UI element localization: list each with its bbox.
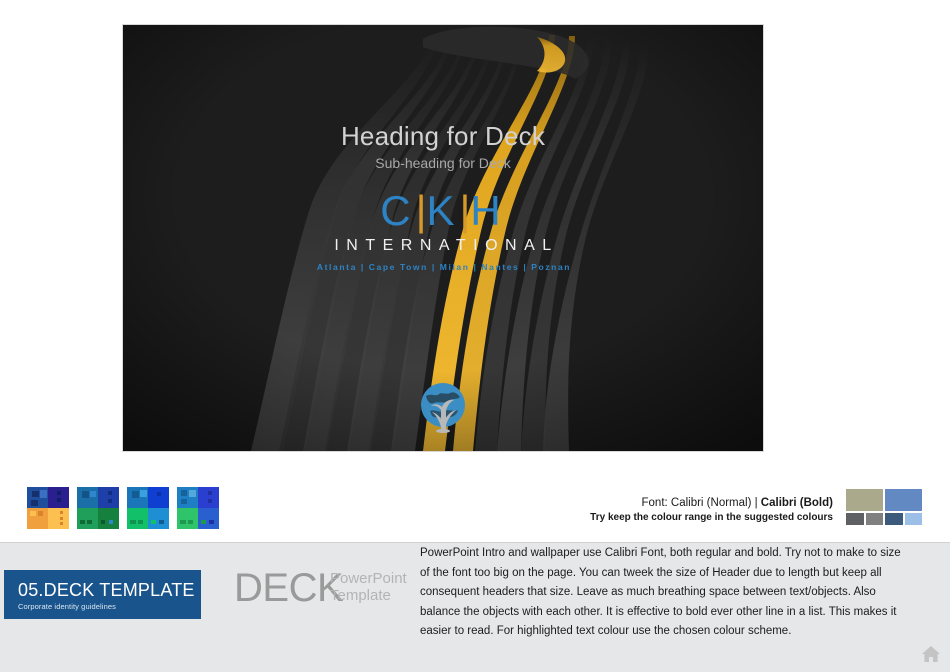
font-note-line2: Try keep the colour range in the suggest… (590, 511, 833, 525)
logo-letter-h: H (470, 187, 505, 234)
section-subtitle: Corporate identity guidelines (18, 602, 116, 611)
palette-swatch-gray[interactable] (866, 513, 884, 525)
logo-wordmark: INTERNATIONAL (123, 237, 763, 255)
ckh-letters: C|K|H (123, 189, 763, 233)
slide-heading: Heading for Deck (123, 121, 763, 152)
ckh-logo: C|K|H INTERNATIONAL Atlanta | Cape Town … (123, 189, 763, 272)
font-note-normal: Font: Calibri (Normal) | (642, 497, 761, 509)
color-scheme-thumbnails (27, 487, 219, 529)
logo-separator-2: | (460, 187, 471, 234)
palette-swatch-lightblue[interactable] (905, 513, 923, 525)
palette-swatches (846, 489, 922, 525)
palette-large-row (846, 489, 922, 511)
palette-swatch-darkgray[interactable] (846, 513, 864, 525)
font-note-line1: Font: Calibri (Normal) | Calibri (Bold) (590, 496, 833, 511)
color-scheme-thumb[interactable] (27, 487, 69, 529)
font-guideline-note: Font: Calibri (Normal) | Calibri (Bold) … (590, 496, 833, 525)
slide-preview[interactable]: Heading for Deck Sub-heading for Deck C|… (123, 25, 763, 451)
color-scheme-thumb[interactable] (177, 487, 219, 529)
logo-letter-k: K (426, 187, 459, 234)
home-icon[interactable] (921, 645, 941, 668)
color-scheme-thumb[interactable] (77, 487, 119, 529)
deck-subtitle-line1: PowerPoint (330, 570, 407, 587)
section-title: 05.DECK TEMPLATE (18, 580, 195, 601)
page-root: Heading for Deck Sub-heading for Deck C|… (0, 0, 950, 672)
logo-separator-1: | (416, 187, 427, 234)
palette-swatch-khaki[interactable] (846, 489, 883, 511)
deck-wordmark: DECK (234, 566, 343, 611)
globe-tree-icon (414, 380, 472, 443)
slide-subheading: Sub-heading for Deck (123, 155, 763, 171)
palette-swatch-blue[interactable] (885, 489, 922, 511)
deck-subtitle: PowerPoint Template (330, 570, 407, 604)
color-scheme-thumb[interactable] (127, 487, 169, 529)
palette-small-row (846, 513, 922, 525)
font-note-bold: Calibri (Bold) (761, 497, 833, 509)
guideline-body-text: PowerPoint Intro and wallpaper use Calib… (420, 544, 902, 642)
palette-swatch-slate[interactable] (885, 513, 903, 525)
logo-cities: Atlanta | Cape Town | Milan | Nantes | P… (123, 262, 763, 272)
deck-subtitle-line2: Template (330, 587, 407, 604)
section-banner[interactable]: 05.DECK TEMPLATE Corporate identity guid… (4, 570, 201, 619)
logo-letter-c: C (380, 187, 415, 234)
